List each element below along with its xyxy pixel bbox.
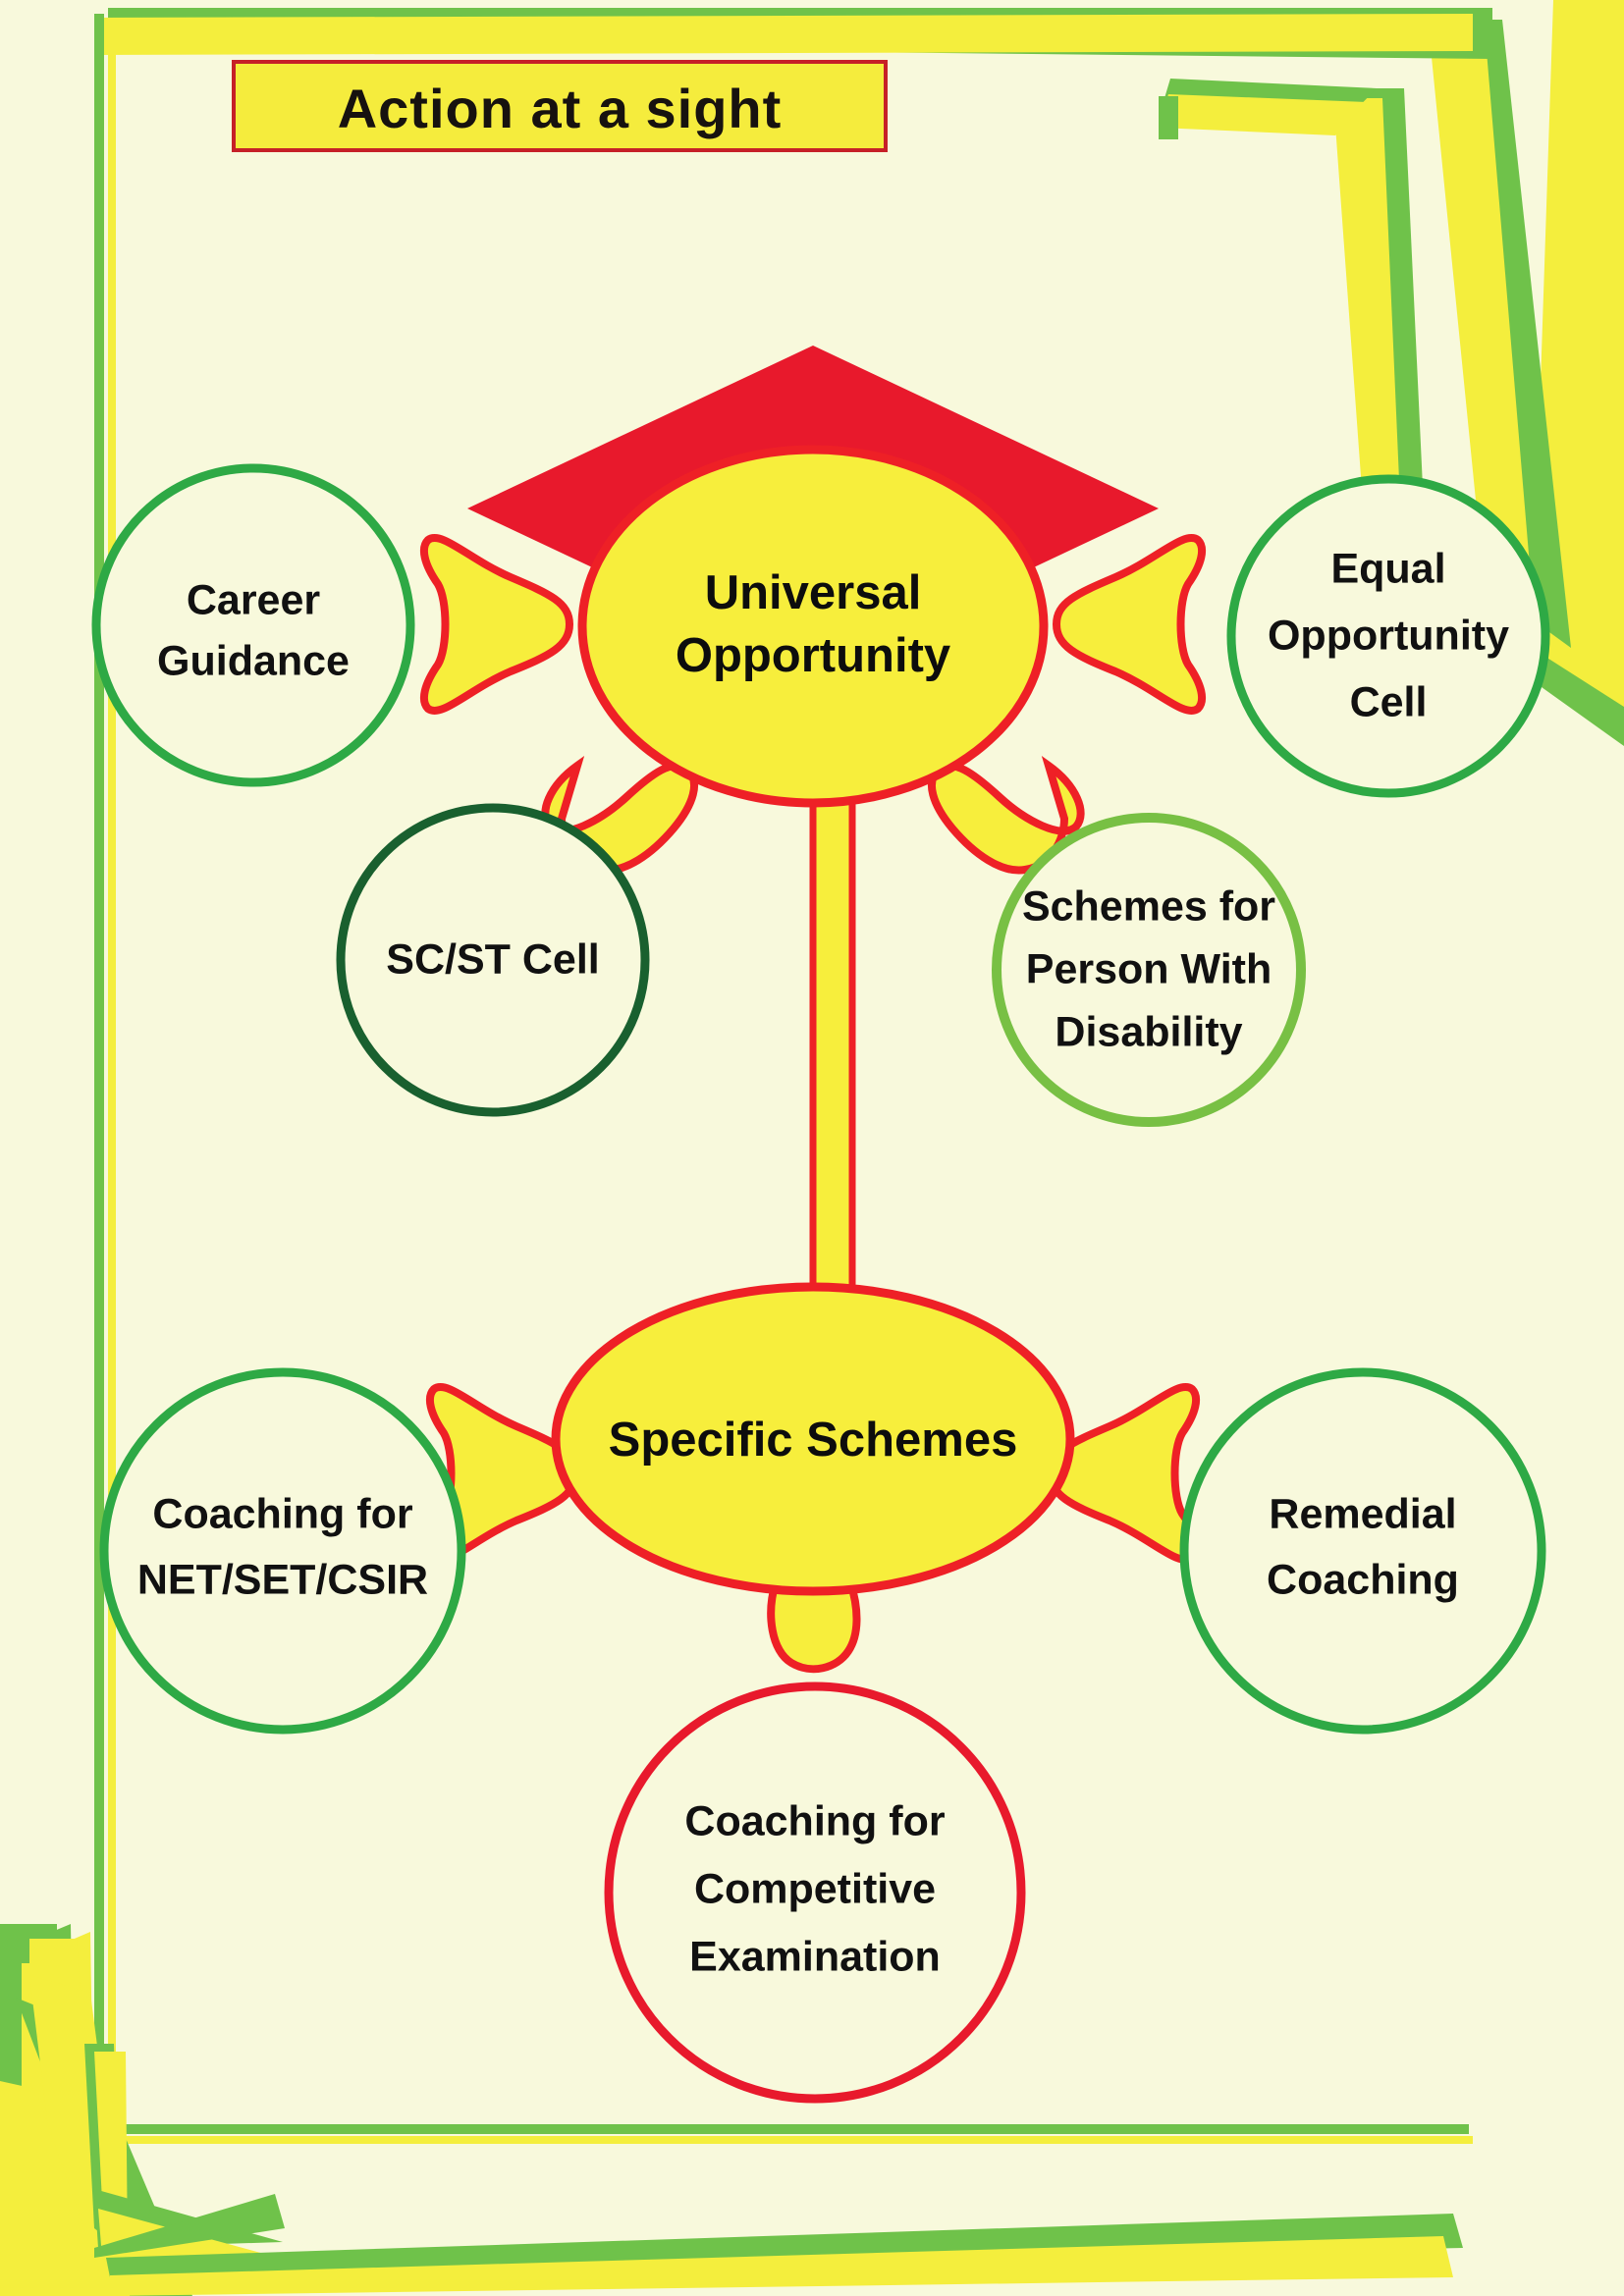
- node-sc-st-cell[interactable]: SC/ST Cell: [341, 808, 645, 1112]
- node-remedial-coaching-circle[interactable]: [1184, 1372, 1542, 1730]
- node-sc-st-cell-line1: SC/ST Cell: [386, 935, 599, 983]
- node-remedial-coaching-line1: Remedial: [1269, 1490, 1456, 1537]
- hub-specific-schemes-line1: Specific Schemes: [609, 1414, 1018, 1467]
- node-schemes-person-with-disability-line2: Person With: [1026, 945, 1272, 992]
- node-career-guidance-circle[interactable]: [96, 468, 410, 782]
- hub-universal-opportunity-line2: Opportunity: [676, 629, 950, 682]
- node-equal-opportunity-cell[interactable]: Equal Opportunity Cell: [1231, 479, 1545, 793]
- node-coaching-net-set-csir-line2: NET/SET/CSIR: [137, 1556, 428, 1603]
- hub-universal-opportunity-shape[interactable]: [582, 450, 1044, 803]
- node-coaching-competitive-examination[interactable]: Coaching for Competitive Examination: [609, 1686, 1021, 2099]
- node-coaching-net-set-csir[interactable]: Coaching for NET/SET/CSIR: [104, 1372, 461, 1730]
- node-coaching-competitive-examination-line2: Competitive: [694, 1865, 936, 1912]
- node-career-guidance-line1: Career: [187, 576, 321, 623]
- node-coaching-competitive-examination-line1: Coaching for: [684, 1797, 945, 1844]
- hub-universal-opportunity[interactable]: Universal Opportunity: [582, 450, 1044, 803]
- hub-universal-opportunity-line1: Universal: [705, 566, 922, 619]
- connector-vertical: [813, 795, 852, 1306]
- node-coaching-net-set-csir-circle[interactable]: [104, 1372, 461, 1730]
- hub-specific-schemes[interactable]: Specific Schemes: [556, 1287, 1070, 1591]
- node-coaching-competitive-examination-line3: Examination: [689, 1933, 941, 1980]
- node-career-guidance[interactable]: Career Guidance: [96, 468, 410, 782]
- node-schemes-person-with-disability-line3: Disability: [1055, 1008, 1242, 1055]
- poster-canvas: Action at a sight Universal Opportunity: [0, 0, 1624, 2296]
- page-title: Action at a sight: [338, 78, 783, 139]
- node-coaching-net-set-csir-line1: Coaching for: [152, 1490, 412, 1537]
- node-career-guidance-line2: Guidance: [157, 637, 350, 684]
- title-banner: Action at a sight: [234, 62, 886, 150]
- node-remedial-coaching[interactable]: Remedial Coaching: [1184, 1372, 1542, 1730]
- node-equal-opportunity-cell-line1: Equal: [1330, 545, 1445, 592]
- node-equal-opportunity-cell-line3: Cell: [1350, 678, 1428, 725]
- diagram-layer: Action at a sight Universal Opportunity: [0, 0, 1624, 2296]
- node-schemes-person-with-disability-line1: Schemes for: [1022, 882, 1275, 930]
- node-schemes-person-with-disability[interactable]: Schemes for Person With Disability: [997, 818, 1301, 1122]
- node-remedial-coaching-line2: Coaching: [1267, 1556, 1459, 1603]
- node-equal-opportunity-cell-line2: Opportunity: [1268, 612, 1509, 659]
